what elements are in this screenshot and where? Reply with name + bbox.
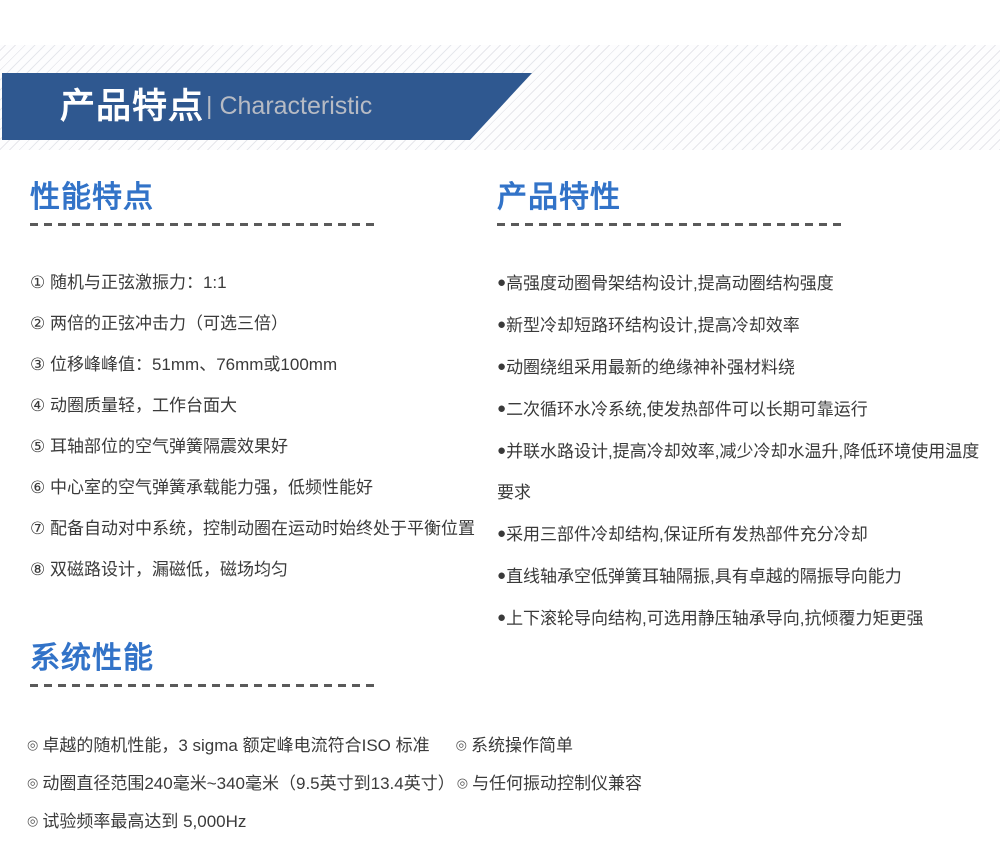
system-performance-list: ◎卓越的随机性能，3 sigma 额定峰电流符合ISO 标准◎系统操作简单 ◎动…	[27, 726, 977, 840]
list-item-label: 动圈绕组采用最新的绝缘神补强材料绕	[506, 358, 795, 377]
list-item: ⑧ 双磁路设计，漏磁低，磁场均匀	[30, 549, 480, 590]
double-circle-icon: ◎	[456, 737, 467, 752]
section-heading-product-features: 产品特性	[497, 182, 842, 226]
bullet-icon: ●	[497, 400, 506, 417]
page-subtitle: | Characteristic	[206, 94, 372, 119]
list-item-label: 新型冷却短路环结构设计,提高冷却效率	[506, 316, 800, 335]
bullet-icon: ●	[497, 567, 506, 584]
list-item: ⑦ 配备自动对中系统，控制动圈在运动时始终处于平衡位置	[30, 508, 480, 549]
list-item: ●高强度动圈骨架结构设计,提高动圈结构强度	[497, 262, 987, 304]
list-item-label: 并联水路设计,提高冷却效率,减少冷却水温升,降低环境使用温度要求	[497, 442, 979, 502]
bullet-icon: ●	[497, 274, 506, 291]
sys-cell-right: ◎与任何振动控制仪兼容	[457, 774, 642, 793]
double-circle-icon: ◎	[27, 737, 38, 752]
section-title-system-performance: 系统性能	[30, 643, 375, 675]
section-heading-system-performance: 系统性能	[30, 643, 375, 687]
page-banner: 产品特点 | Characteristic	[2, 73, 532, 140]
list-item: ③ 位移峰峰值：51mm、76mm或100mm	[30, 344, 480, 385]
product-features-list: ●高强度动圈骨架结构设计,提高动圈结构强度 ●新型冷却短路环结构设计,提高冷却效…	[497, 262, 987, 639]
section-heading-performance: 性能特点	[30, 182, 375, 226]
list-item: ④ 动圈质量轻，工作台面大	[30, 385, 480, 426]
bullet-icon: ●	[497, 442, 506, 459]
list-item-label: 上下滚轮导向结构,可选用静压轴承导向,抗倾覆力矩更强	[506, 609, 923, 628]
section-title-performance: 性能特点	[30, 182, 375, 214]
section-title-product-features: 产品特性	[497, 182, 842, 214]
list-item: ◎动圈直径范围240毫米~340毫米（9.5英寸到13.4英寸）◎与任何振动控制…	[27, 764, 977, 802]
double-circle-icon: ◎	[27, 775, 38, 790]
list-item: ⑤ 耳轴部位的空气弹簧隔震效果好	[30, 426, 480, 467]
performance-list: ① 随机与正弦激振力：1:1 ② 两倍的正弦冲击力（可选三倍） ③ 位移峰峰值：…	[30, 262, 480, 590]
list-item-label: 二次循环水冷系统,使发热部件可以长期可靠运行	[506, 400, 868, 419]
list-item: ●上下滚轮导向结构,可选用静压轴承导向,抗倾覆力矩更强	[497, 597, 987, 639]
section-rule-system-performance	[30, 684, 375, 687]
list-item: ② 两倍的正弦冲击力（可选三倍）	[30, 303, 480, 344]
sys-cell-left: ◎试验频率最高达到 5,000Hz	[27, 812, 246, 831]
section-rule-product-features	[497, 223, 842, 226]
list-item: ⑥ 中心室的空气弹簧承载能力强，低频性能好	[30, 467, 480, 508]
sys-left-label: 动圈直径范围240毫米~340毫米（9.5英寸到13.4英寸）	[42, 774, 454, 793]
sys-cell-left: ◎动圈直径范围240毫米~340毫米（9.5英寸到13.4英寸）	[27, 774, 455, 793]
sys-left-label: 试验频率最高达到 5,000Hz	[42, 812, 246, 831]
list-item-label: 高强度动圈骨架结构设计,提高动圈结构强度	[506, 274, 834, 293]
list-item: ●动圈绕组采用最新的绝缘神补强材料绕	[497, 346, 987, 388]
bullet-icon: ●	[497, 609, 506, 626]
bullet-icon: ●	[497, 358, 506, 375]
bullet-icon: ●	[497, 525, 506, 542]
bullet-icon: ●	[497, 316, 506, 333]
sys-cell-left: ◎卓越的随机性能，3 sigma 额定峰电流符合ISO 标准	[27, 736, 430, 755]
list-item: ●并联水路设计,提高冷却效率,减少冷却水温升,降低环境使用温度要求	[497, 430, 987, 513]
list-item: ◎试验频率最高达到 5,000Hz	[27, 802, 977, 840]
list-item: ◎卓越的随机性能，3 sigma 额定峰电流符合ISO 标准◎系统操作简单	[27, 726, 977, 764]
list-item-label: 直线轴承空低弹簧耳轴隔振,具有卓越的隔振导向能力	[506, 567, 902, 586]
list-item-label: 采用三部件冷却结构,保证所有发热部件充分冷却	[506, 525, 868, 544]
list-item: ① 随机与正弦激振力：1:1	[30, 262, 480, 303]
sys-right-label: 与任何振动控制仪兼容	[472, 774, 642, 793]
list-item: ●直线轴承空低弹簧耳轴隔振,具有卓越的隔振导向能力	[497, 555, 987, 597]
sys-right-label: 系统操作简单	[471, 736, 573, 755]
page-title: 产品特点	[60, 89, 204, 124]
double-circle-icon: ◎	[27, 813, 38, 828]
sys-left-label: 卓越的随机性能，3 sigma 额定峰电流符合ISO 标准	[42, 736, 429, 755]
section-rule-performance	[30, 223, 375, 226]
sys-cell-right: ◎系统操作简单	[456, 736, 573, 755]
list-item: ●采用三部件冷却结构,保证所有发热部件充分冷却	[497, 513, 987, 555]
list-item: ●二次循环水冷系统,使发热部件可以长期可靠运行	[497, 388, 987, 430]
list-item: ●新型冷却短路环结构设计,提高冷却效率	[497, 304, 987, 346]
double-circle-icon: ◎	[457, 775, 468, 790]
